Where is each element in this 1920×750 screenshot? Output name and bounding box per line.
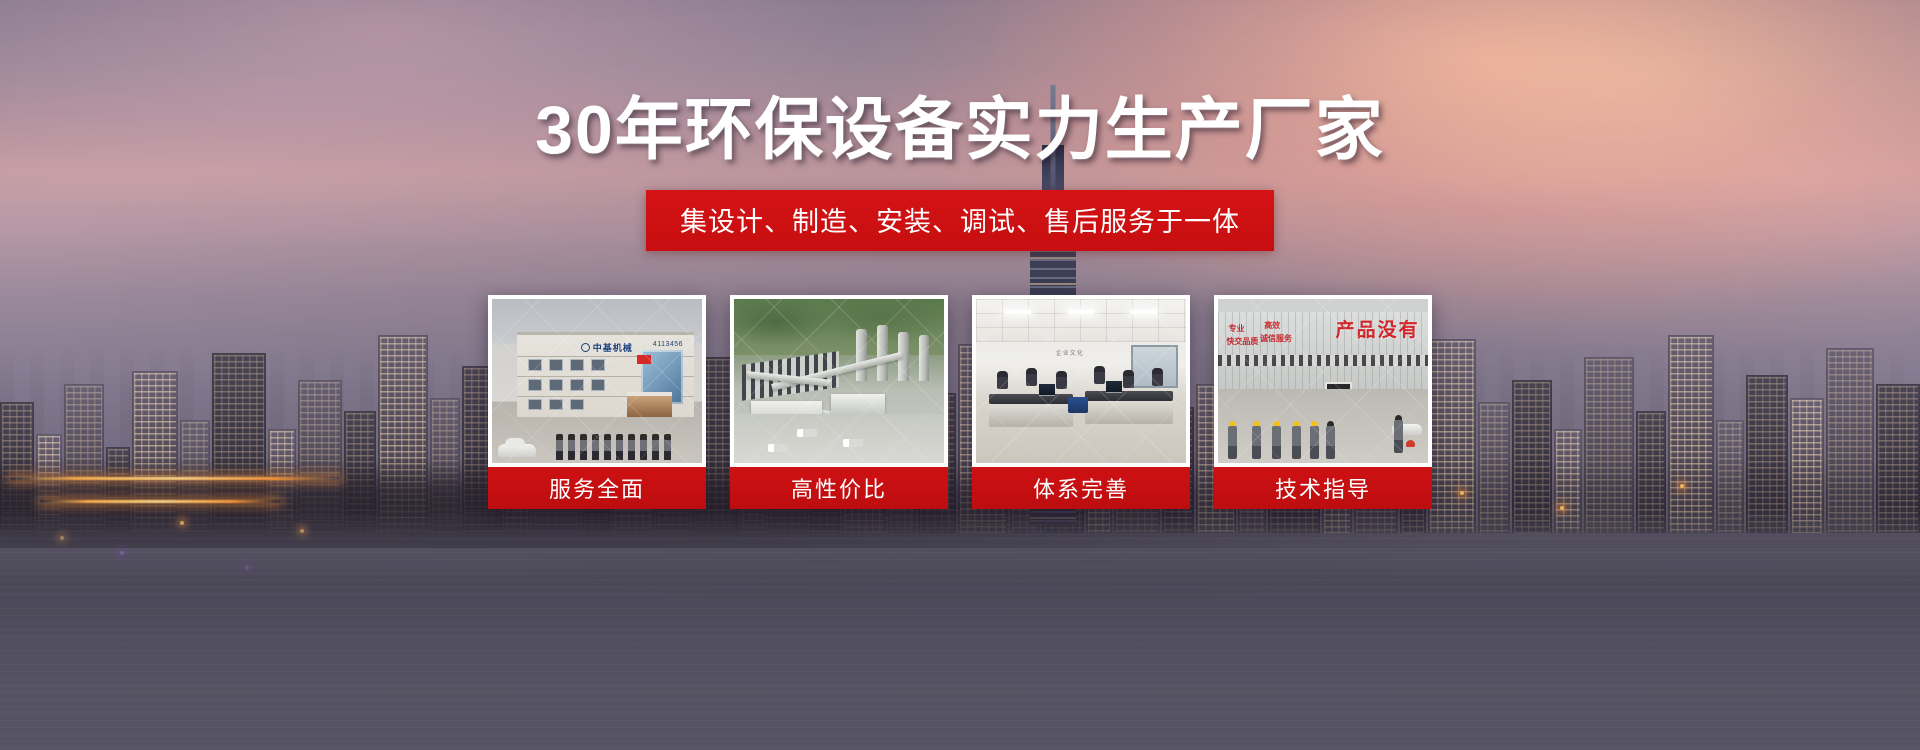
factory-banner-text: 产品没有 (1336, 315, 1420, 342)
card-label: 服务全面 (488, 467, 706, 509)
feature-card[interactable]: 产品没有 专业 快交品质 高效 诚信服务 (1214, 295, 1432, 509)
factory-slogan: 专业 (1229, 325, 1245, 333)
card-label: 体系完善 (972, 467, 1190, 509)
card-label: 技术指导 (1214, 467, 1432, 509)
feature-card-row: 中基机械 4113456 (488, 295, 1432, 509)
card-photo-plant-aerial (734, 299, 944, 463)
factory-slogan: 快交品质 (1226, 338, 1258, 346)
card-photo-factory-training: 产品没有 专业 快交品质 高效 诚信服务 (1218, 299, 1428, 463)
hero-banner: 30年环保设备实力生产厂家 集设计、制造、安装、调试、售后服务于一体 (0, 0, 1920, 750)
card-photo-office-interior: 企业文化 (976, 299, 1186, 463)
subtitle-badge: 集设计、制造、安装、调试、售后服务于一体 (646, 190, 1274, 251)
factory-slogan: 诚信服务 (1260, 335, 1292, 343)
card-label: 高性价比 (730, 467, 948, 509)
building-signage: 中基机械 (581, 341, 633, 354)
feature-card[interactable]: 高性价比 (730, 295, 948, 509)
feature-card[interactable]: 中基机械 4113456 (488, 295, 706, 509)
card-photo-office-building: 中基机械 4113456 (492, 299, 702, 463)
banner-content: 30年环保设备实力生产厂家 集设计、制造、安装、调试、售后服务于一体 (0, 0, 1920, 750)
page-title: 30年环保设备实力生产厂家 (535, 96, 1385, 164)
factory-slogan: 高效 (1264, 322, 1280, 330)
building-phone-number: 4113456 (653, 341, 683, 348)
feature-card[interactable]: 企业文化 体系完善 (972, 295, 1190, 509)
